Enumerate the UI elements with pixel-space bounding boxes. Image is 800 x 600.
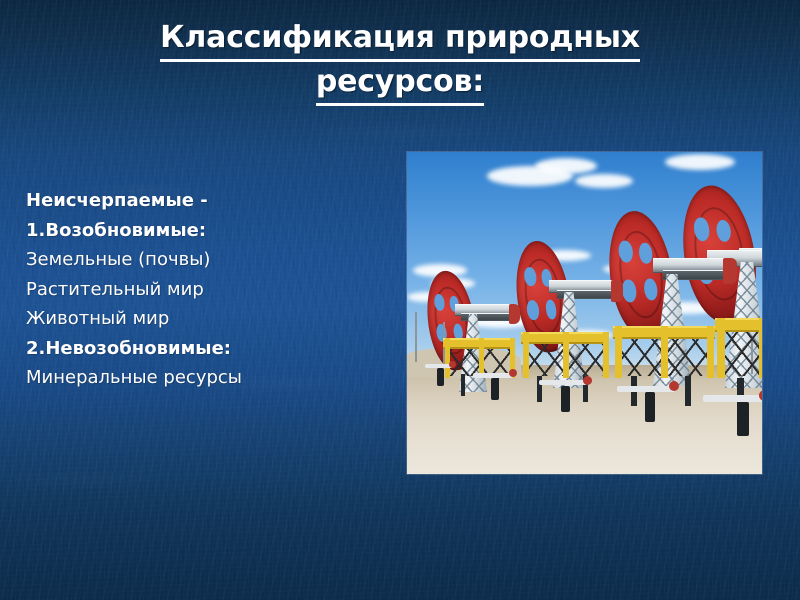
railing-post (603, 332, 609, 378)
slide-title-line-1: Классификация природных (70, 18, 730, 62)
slide-title-line-1-text: Классификация природных (160, 18, 640, 62)
platform-leg (461, 374, 465, 396)
slide-title-line-2-text: ресурсов: (316, 62, 484, 106)
railing-post (479, 338, 484, 378)
list-item: Животный мир (26, 304, 386, 334)
presentation-slide: Классификация природных ресурсов: Неисче… (0, 0, 800, 600)
cloud (665, 154, 735, 170)
wellhead (491, 378, 499, 400)
cloud (575, 174, 633, 188)
surface-pipe (617, 386, 675, 392)
list-item: Растительный мир (26, 275, 386, 305)
list-item: 1.Возобновимые: (26, 216, 386, 246)
list-item: Минеральные ресурсы (26, 363, 386, 393)
surface-pipe (539, 380, 587, 385)
railing-post (445, 338, 450, 378)
pumpjack-horse-head (611, 280, 623, 302)
list-item: 2.Невозобновимые: (26, 334, 386, 364)
oil-pumpjacks-photo (407, 152, 762, 474)
valve (669, 381, 679, 391)
surface-pipe (473, 373, 513, 378)
valve (449, 361, 456, 368)
railing-post (661, 326, 668, 378)
railing-post (523, 332, 529, 378)
wellhead (645, 392, 655, 422)
utility-pole (415, 312, 417, 362)
slide-title: Классификация природных ресурсов: (70, 18, 730, 106)
platform-leg (685, 376, 691, 406)
cloud (535, 158, 597, 174)
valve (509, 369, 517, 377)
railing-post (707, 326, 714, 378)
wellhead (437, 368, 444, 386)
railing-post (615, 326, 622, 378)
surface-pipe (703, 395, 762, 402)
wellhead (737, 402, 749, 436)
railing-post (563, 332, 569, 378)
list-item: Неисчерпаемые - (26, 186, 386, 216)
pumpjack-horse-head (723, 258, 737, 284)
resource-classification-list: Неисчерпаемые - 1.Возобновимые: Земельны… (26, 186, 386, 393)
railing-post (717, 318, 725, 378)
list-item: Земельные (почвы) (26, 245, 386, 275)
valve (583, 376, 592, 385)
railing-post (759, 318, 762, 378)
pumpjack-horse-head (509, 304, 520, 324)
wellhead (561, 386, 570, 412)
slide-title-line-2: ресурсов: (70, 62, 730, 106)
